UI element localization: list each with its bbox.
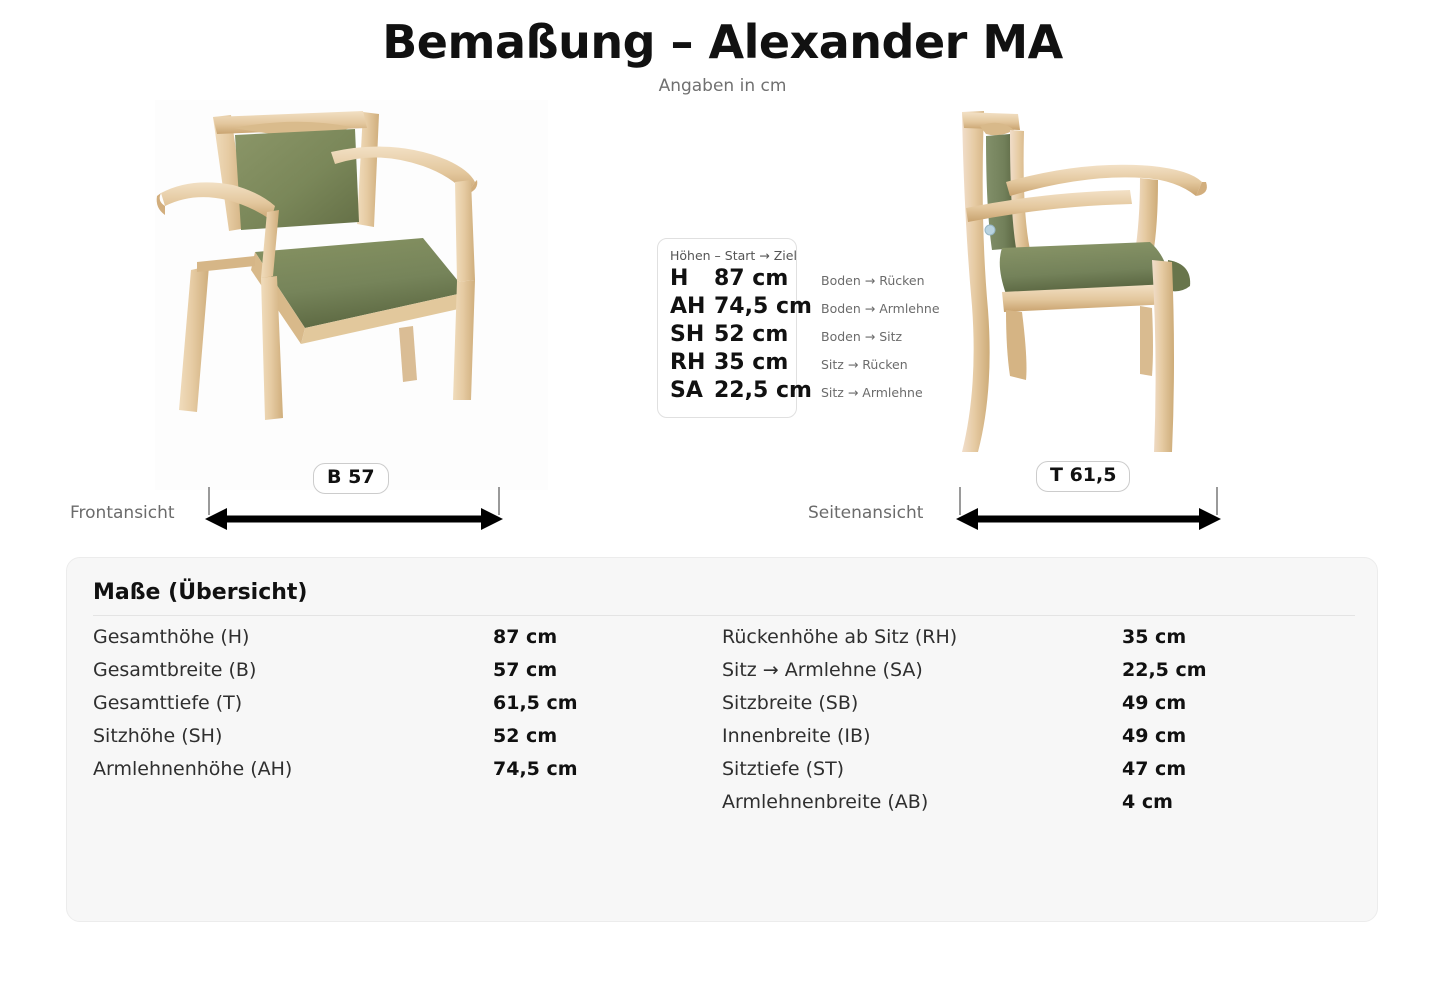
spec-value-gesamthoehe: 87 cm (493, 626, 557, 648)
spec-label-armlehnenhoehe: Armlehnenhöhe (AH) (93, 758, 493, 780)
legend-desc-sh: Boden → Sitz (821, 323, 940, 351)
legend-row-h: H 87 cm (670, 266, 784, 294)
spec-value-sitzhoehe: 52 cm (493, 725, 557, 747)
spec-value-sitzbreite: 49 cm (1122, 692, 1186, 714)
spec-label-sitzbreite: Sitzbreite (SB) (722, 692, 1122, 714)
legend-value-rh: 35 cm (714, 350, 788, 375)
spec-label-armlehnenbreite: Armlehnenbreite (AB) (722, 791, 1122, 813)
heights-legend-descriptions: Boden → Rücken Boden → Armlehne Boden → … (821, 267, 940, 407)
spec-row-rueckenhoehe: Rückenhöhe ab Sitz (RH) 35 cm (722, 626, 1351, 659)
legend-desc-sa: Sitz → Armlehne (821, 379, 940, 407)
spec-row-innenbreite: Innenbreite (IB) 49 cm (722, 725, 1351, 758)
spec-value-armlehnenhoehe: 74,5 cm (493, 758, 578, 780)
spec-label-gesamtbreite: Gesamtbreite (B) (93, 659, 493, 681)
page-subtitle: Angaben in cm (0, 76, 1445, 96)
spec-value-innenbreite: 49 cm (1122, 725, 1186, 747)
views-area: Höhen – Start → Ziel H 87 cm AH 74,5 cm … (0, 100, 1445, 540)
dimensions-summary-card: Maße (Übersicht) Gesamthöhe (H) 87 cm Ge… (66, 557, 1378, 922)
legend-code-h: H (670, 266, 714, 291)
legend-row-sh: SH 52 cm (670, 322, 784, 350)
spec-value-armlehnenbreite: 4 cm (1122, 791, 1173, 813)
spec-row-sitz-armlehne: Sitz → Armlehne (SA) 22,5 cm (722, 659, 1351, 692)
legend-code-sa: SA (670, 378, 714, 403)
chair-side-view-panel (944, 100, 1244, 490)
spec-label-gesamthoehe: Gesamthöhe (H) (93, 626, 493, 648)
spec-label-sitz-armlehne: Sitz → Armlehne (SA) (722, 659, 1122, 681)
spec-row-gesamttiefe: Gesamttiefe (T) 61,5 cm (93, 692, 722, 725)
summary-column-right: Rückenhöhe ab Sitz (RH) 35 cm Sitz → Arm… (722, 626, 1351, 824)
legend-desc-ah: Boden → Armlehne (821, 295, 940, 323)
legend-desc-h: Boden → Rücken (821, 267, 940, 295)
spec-value-gesamttiefe: 61,5 cm (493, 692, 578, 714)
spec-value-sitz-armlehne: 22,5 cm (1122, 659, 1207, 681)
legend-code-sh: SH (670, 322, 714, 347)
front-width-dimension-arrow (203, 487, 513, 536)
spec-label-innenbreite: Innenbreite (IB) (722, 725, 1122, 747)
spec-row-gesamtbreite: Gesamtbreite (B) 57 cm (93, 659, 722, 692)
summary-column-left: Gesamthöhe (H) 87 cm Gesamtbreite (B) 57… (93, 626, 722, 824)
spec-label-gesamttiefe: Gesamttiefe (T) (93, 692, 493, 714)
summary-columns: Gesamthöhe (H) 87 cm Gesamtbreite (B) 57… (93, 626, 1351, 824)
spec-row-armlehnenhoehe: Armlehnenhöhe (AH) 74,5 cm (93, 758, 722, 791)
spec-value-sitztiefe: 47 cm (1122, 758, 1186, 780)
page-title: Bemaßung – Alexander MA (0, 18, 1445, 66)
legend-code-ah: AH (670, 294, 714, 319)
spec-label-rueckenhoehe: Rückenhöhe ab Sitz (RH) (722, 626, 1122, 648)
spec-value-gesamtbreite: 57 cm (493, 659, 557, 681)
chair-front-view-panel (155, 100, 548, 490)
spec-row-gesamthoehe: Gesamthöhe (H) 87 cm (93, 626, 722, 659)
legend-desc-rh: Sitz → Rücken (821, 351, 940, 379)
page-header: Bemaßung – Alexander MA Angaben in cm (0, 18, 1445, 96)
spec-row-sitztiefe: Sitztiefe (ST) 47 cm (722, 758, 1351, 791)
spec-label-sitztiefe: Sitztiefe (ST) (722, 758, 1122, 780)
spec-row-armlehnenbreite: Armlehnenbreite (AB) 4 cm (722, 791, 1351, 824)
spec-row-sitzhoehe: Sitzhöhe (SH) 52 cm (93, 725, 722, 758)
summary-title: Maße (Übersicht) (93, 580, 1351, 605)
legend-value-sh: 52 cm (714, 322, 788, 347)
legend-value-sa: 22,5 cm (714, 378, 812, 403)
legend-row-rh: RH 35 cm (670, 350, 784, 378)
front-view-label: Frontansicht (70, 503, 175, 523)
legend-value-h: 87 cm (714, 266, 788, 291)
spec-label-sitzhoehe: Sitzhöhe (SH) (93, 725, 493, 747)
legend-row-ah: AH 74,5 cm (670, 294, 784, 322)
heights-legend-box: Höhen – Start → Ziel H 87 cm AH 74,5 cm … (657, 238, 797, 418)
heights-legend-caption: Höhen – Start → Ziel (670, 248, 784, 263)
chair-front-view-image (155, 100, 548, 490)
summary-divider (93, 615, 1355, 616)
legend-value-ah: 74,5 cm (714, 294, 812, 319)
spec-row-sitzbreite: Sitzbreite (SB) 49 cm (722, 692, 1351, 725)
chair-side-view-image (944, 100, 1244, 490)
legend-row-sa: SA 22,5 cm (670, 378, 784, 406)
spec-value-rueckenhoehe: 35 cm (1122, 626, 1186, 648)
legend-code-rh: RH (670, 350, 714, 375)
side-depth-dimension-arrow (955, 487, 1230, 536)
side-view-label: Seitenansicht (808, 503, 923, 523)
